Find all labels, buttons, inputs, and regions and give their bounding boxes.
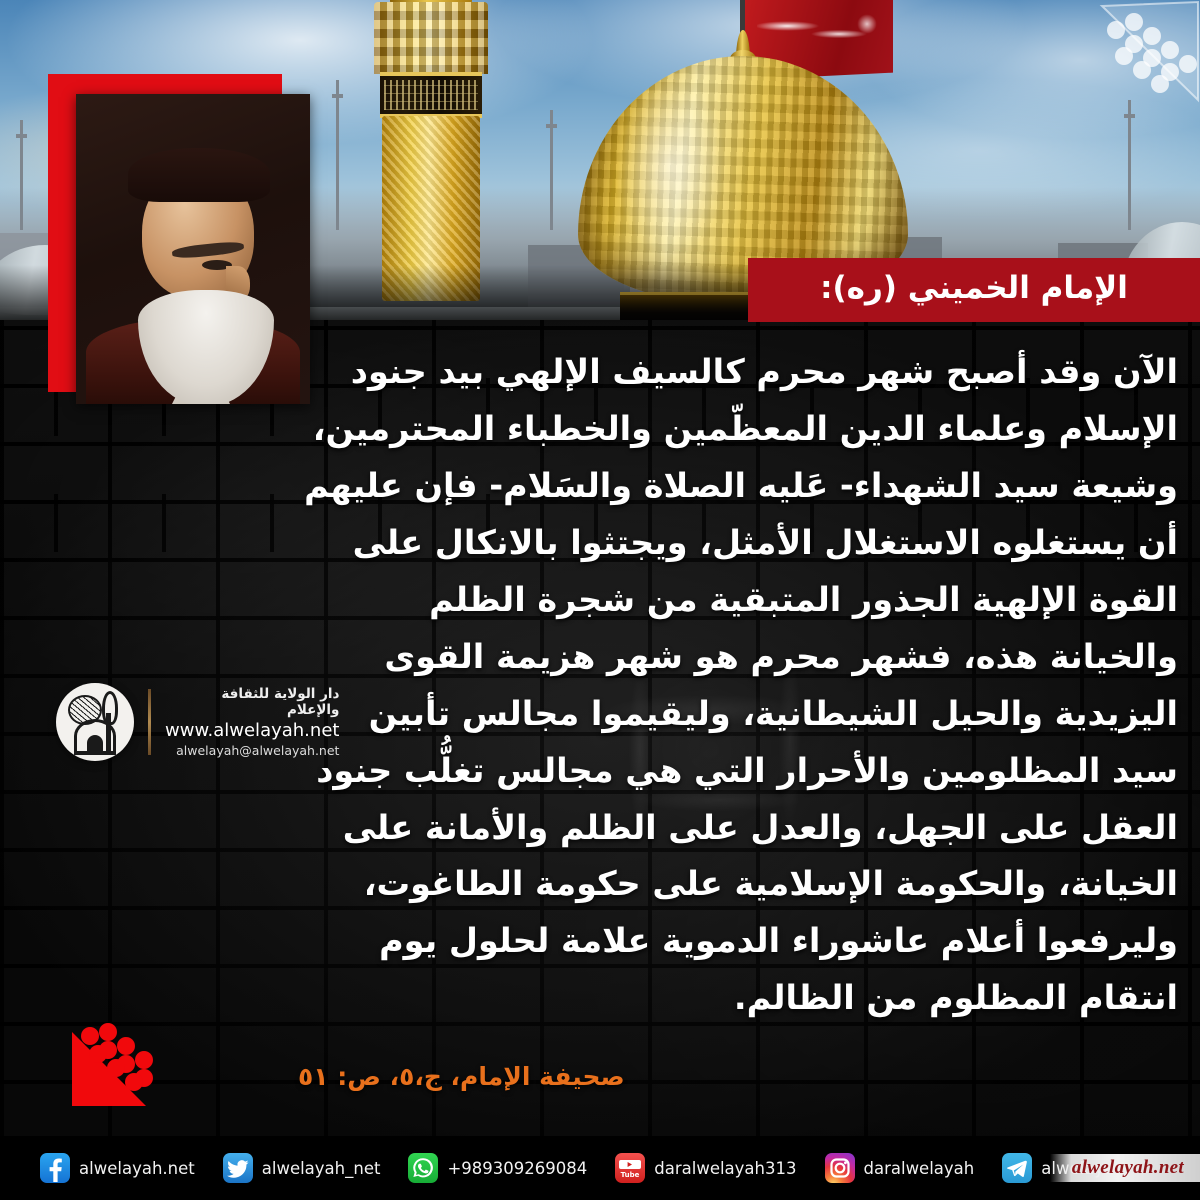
social-item-youtube[interactable]: Tube daralwelayah313 — [601, 1153, 810, 1183]
instagram-icon — [825, 1153, 855, 1183]
golden-minaret — [372, 0, 490, 296]
logo-arch — [87, 735, 103, 751]
speaker-title-banner: الإمام الخميني (ره): — [748, 258, 1200, 322]
portrait-turban — [128, 148, 270, 202]
youtube-icon: Tube — [615, 1153, 645, 1183]
speaker-name: الإمام الخميني (ره): — [820, 273, 1128, 304]
antenna-mast — [1128, 100, 1131, 230]
minaret-crown — [374, 2, 488, 74]
portrait-frame — [48, 74, 310, 404]
antenna-mast — [20, 120, 23, 230]
quote-text: الآن وقد أصبح شهر محرم كالسيف الإلهي بيد… — [298, 344, 1178, 1027]
antenna-mast — [336, 80, 339, 230]
facebook-handle: alwelayah.net — [79, 1159, 195, 1178]
logo-text-block: دار الولاية للثقافة والإعلام www.alwelay… — [165, 686, 339, 758]
logo-base — [74, 751, 116, 755]
imam-khomeini-portrait — [76, 94, 310, 404]
site-watermark: alwelayah.net — [1050, 1154, 1200, 1182]
red-triangle-dots-icon — [64, 1014, 166, 1112]
svg-text:Tube: Tube — [621, 1171, 640, 1179]
twitter-handle: alwelayah_net — [262, 1159, 381, 1178]
youtube-handle: daralwelayah313 — [654, 1159, 796, 1178]
facebook-icon — [40, 1153, 70, 1183]
telegram-icon — [1002, 1153, 1032, 1183]
flag-calligraphy — [757, 10, 881, 50]
organization-logo-block[interactable]: دار الولاية للثقافة والإعلام www.alwelay… — [56, 672, 314, 772]
social-item-facebook[interactable]: alwelayah.net — [26, 1153, 209, 1183]
logo-divider — [148, 689, 151, 755]
whatsapp-number: +989309269084 — [447, 1159, 587, 1178]
instagram-handle: daralwelayah — [864, 1159, 975, 1178]
social-item-instagram[interactable]: daralwelayah — [811, 1153, 989, 1183]
org-name: دار الولاية للثقافة والإعلام — [165, 686, 339, 718]
whatsapp-icon — [408, 1153, 438, 1183]
dar-alwelayah-logo-icon — [56, 683, 134, 761]
quote-poster: الإمام الخميني (ره): الآن وقد أصبح شهر م… — [0, 0, 1200, 1200]
org-website[interactable]: www.alwelayah.net — [165, 720, 339, 741]
social-footer-bar: alwelayah.net alwelayah_net +98930926908… — [0, 1136, 1200, 1200]
social-item-twitter[interactable]: alwelayah_net — [209, 1153, 395, 1183]
antenna-mast — [550, 110, 553, 230]
social-item-whatsapp[interactable]: +989309269084 — [394, 1153, 601, 1183]
org-email[interactable]: alwelayah@alwelayah.net — [165, 743, 339, 758]
minaret-calligraphy-band — [380, 72, 482, 118]
twitter-icon — [223, 1153, 253, 1183]
quote-source: صحيفة الإمام، ج،٥، ص: ٥١ — [298, 1062, 1178, 1091]
